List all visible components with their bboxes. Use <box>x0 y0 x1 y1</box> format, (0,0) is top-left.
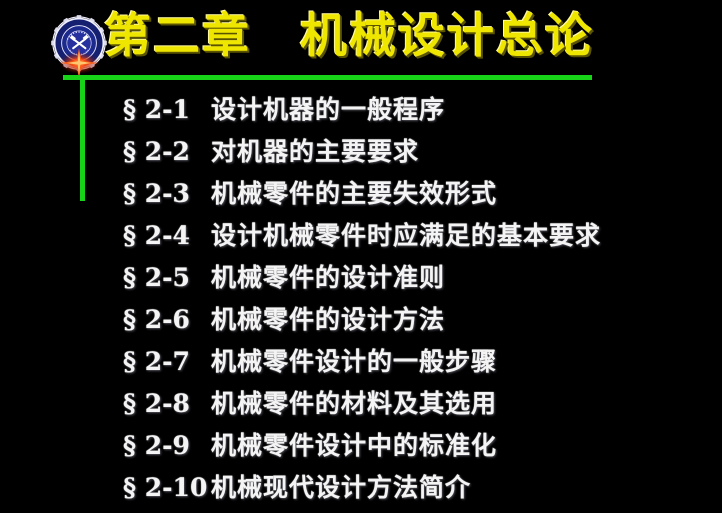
toc-item-number: § 2-6 <box>123 305 211 334</box>
toc-item-number: § 2-8 <box>123 389 211 418</box>
toc-item-label: 机械零件设计的一般步骤 <box>211 342 497 378</box>
toc-item-label: 对机器的主要要求 <box>211 132 419 168</box>
toc-item-label: 机械零件的主要失效形式 <box>211 174 497 210</box>
slide-header: 第二章 机械设计总论 <box>0 0 722 82</box>
slide-title: 第二章 机械设计总论 <box>104 2 594 74</box>
toc-item[interactable]: § 2-1设计机器的一般程序 <box>0 90 722 132</box>
toc-item[interactable]: § 2-6机械零件的设计方法 <box>0 300 722 342</box>
toc-item-label: 机械零件的材料及其选用 <box>211 384 497 420</box>
toc-item-number: § 2-9 <box>123 431 211 460</box>
toc-item-number: § 2-4 <box>123 221 211 250</box>
presentation-slide: 第二章 机械设计总论 § 2-1设计机器的一般程序§ 2-2对机器的主要要求§ … <box>0 0 722 513</box>
toc-item-label: 设计机器的一般程序 <box>211 90 445 126</box>
toc-item-label: 设计机械零件时应满足的基本要求 <box>211 216 601 252</box>
toc-item-number: § 2-10 <box>123 473 211 502</box>
toc-item-label: 机械零件的设计准则 <box>211 258 445 294</box>
toc-item-number: § 2-3 <box>123 179 211 208</box>
toc-item[interactable]: § 2-9机械零件设计中的标准化 <box>0 426 722 468</box>
toc-item[interactable]: § 2-7机械零件设计的一般步骤 <box>0 342 722 384</box>
toc-item[interactable]: § 2-10机械现代设计方法简介 <box>0 468 722 510</box>
horizontal-divider-rule <box>63 75 592 80</box>
toc-item-label: 机械现代设计方法简介 <box>211 468 471 504</box>
toc-item[interactable]: § 2-4设计机械零件时应满足的基本要求 <box>0 216 722 258</box>
university-gear-emblem-icon <box>50 14 108 72</box>
toc-item-number: § 2-2 <box>123 137 211 166</box>
toc-item-number: § 2-7 <box>123 347 211 376</box>
toc-item-number: § 2-5 <box>123 263 211 292</box>
table-of-contents-list: § 2-1设计机器的一般程序§ 2-2对机器的主要要求§ 2-3机械零件的主要失… <box>0 90 722 510</box>
toc-item-number: § 2-1 <box>123 95 211 124</box>
toc-item[interactable]: § 2-8机械零件的材料及其选用 <box>0 384 722 426</box>
toc-item[interactable]: § 2-3机械零件的主要失效形式 <box>0 174 722 216</box>
toc-item-label: 机械零件的设计方法 <box>211 300 445 336</box>
toc-item-label: 机械零件设计中的标准化 <box>211 426 497 462</box>
toc-item[interactable]: § 2-5机械零件的设计准则 <box>0 258 722 300</box>
toc-item[interactable]: § 2-2对机器的主要要求 <box>0 132 722 174</box>
